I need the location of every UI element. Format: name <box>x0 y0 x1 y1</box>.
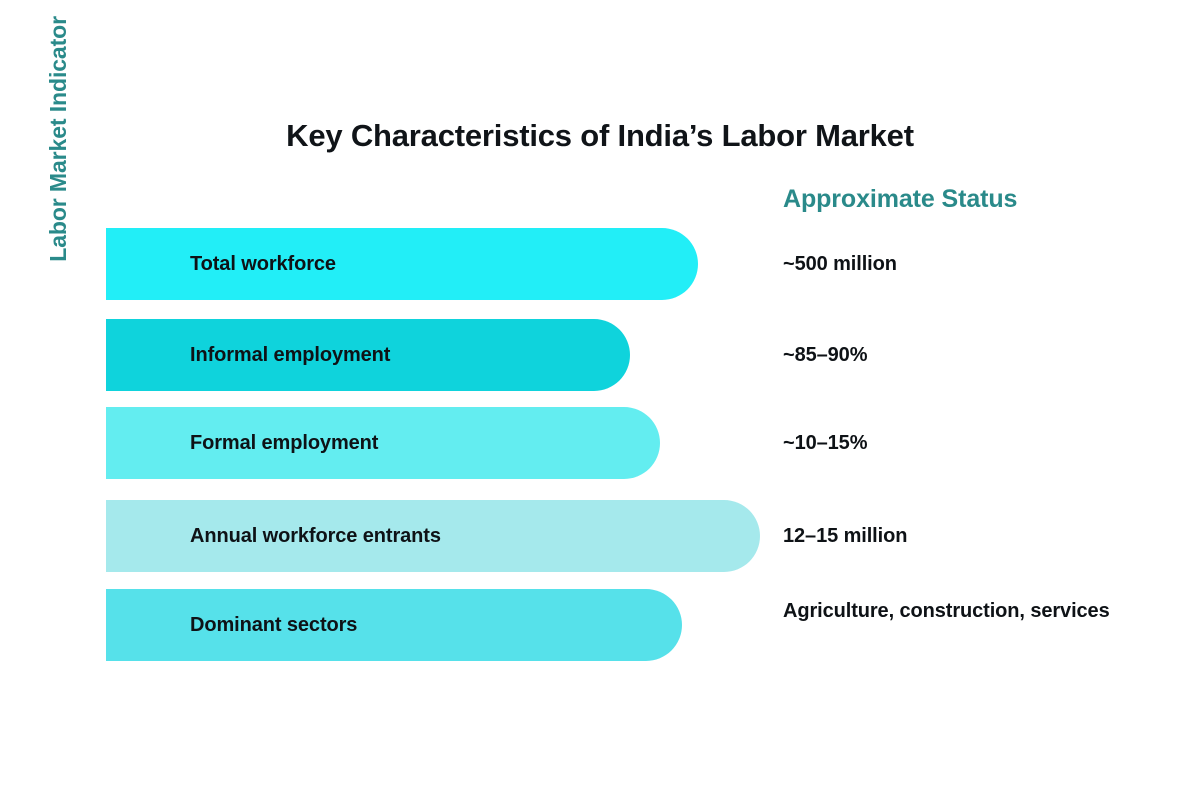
bar-total-workforce: Total workforce <box>106 228 698 300</box>
bars-layer: Total workforce ~500 million Informal em… <box>0 0 1200 800</box>
bar-dominant-sectors: Dominant sectors <box>106 589 682 661</box>
status-value: ~10–15% <box>783 429 1183 458</box>
bar-label: Total workforce <box>190 253 336 276</box>
bar-label: Formal employment <box>190 432 378 455</box>
infographic-chart: Key Characteristics of India’s Labor Mar… <box>0 0 1200 800</box>
bar-label: Dominant sectors <box>190 614 357 637</box>
bar-annual-workforce-entrants: Annual workforce entrants <box>106 500 760 572</box>
bar-label: Annual workforce entrants <box>190 525 441 548</box>
status-value: Agriculture, construction, services <box>783 597 1153 626</box>
status-value: ~500 million <box>783 250 1183 279</box>
status-value: ~85–90% <box>783 341 1183 370</box>
status-value: 12–15 million <box>783 522 1183 551</box>
bar-formal-employment: Formal employment <box>106 407 660 479</box>
bar-informal-employment: Informal employment <box>106 319 630 391</box>
bar-label: Informal employment <box>190 344 390 367</box>
